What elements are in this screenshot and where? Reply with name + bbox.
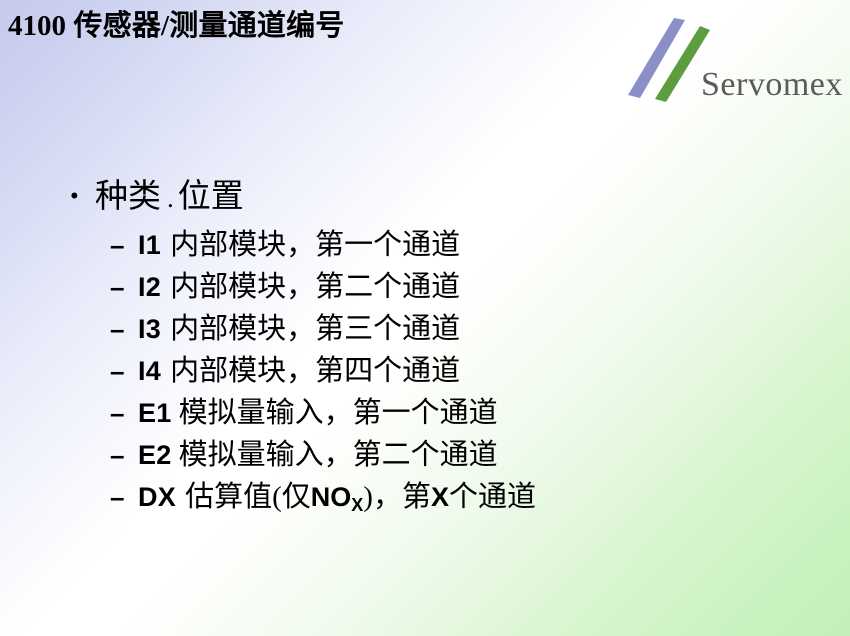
list-item: – I3内部模块，第三个通道 xyxy=(0,308,850,350)
channel-description: 内部模块，第一个通道 xyxy=(161,229,460,261)
bullet-dot-icon: • xyxy=(70,175,79,219)
channel-description-suffix-post: 个通道 xyxy=(449,481,536,513)
list-dash-icon: – xyxy=(110,434,124,476)
list-dash-icon: – xyxy=(110,308,124,350)
list-item: – E1模拟量输入，第一个通道 xyxy=(0,392,850,434)
list-item: – I1内部模块，第一个通道 xyxy=(0,224,850,266)
channel-index-variable: X xyxy=(431,482,449,512)
list-dash-icon: – xyxy=(110,224,124,266)
page-title-text: 传感器/测量通道编号 xyxy=(66,10,345,42)
heading-term-category: 种类 xyxy=(95,179,161,215)
page-title: 4100 传感器/测量通道编号 xyxy=(8,7,345,45)
list-item: – I2内部模块，第二个通道 xyxy=(0,266,850,308)
slide: 4100 传感器/测量通道编号 Servomex • 种类.位置 – I1内部模… xyxy=(0,0,850,636)
list-item: – DX估算值(仅NOX)，第X个通道 xyxy=(0,476,850,518)
channel-description-prefix: 估算值(仅 xyxy=(176,481,311,513)
channel-code: E2 xyxy=(138,440,172,470)
chemical-formula-subscript: X xyxy=(351,495,363,515)
channel-code: I1 xyxy=(138,230,161,260)
page-title-number: 4100 xyxy=(8,10,66,42)
channel-description: 模拟量输入，第一个通道 xyxy=(172,397,498,429)
channel-description-middle: )， xyxy=(363,481,402,513)
chemical-formula: NOX xyxy=(311,482,364,512)
list-dash-icon: – xyxy=(110,266,124,308)
channel-description: 内部模块，第三个通道 xyxy=(161,313,460,345)
channel-description: 内部模块，第二个通道 xyxy=(161,271,460,303)
channel-description: 模拟量输入，第二个通道 xyxy=(172,439,498,471)
slide-content: • 种类.位置 – I1内部模块，第一个通道 – I2内部模块，第二个通道 – … xyxy=(0,175,850,518)
list-dash-icon: – xyxy=(110,476,124,518)
list-dash-icon: – xyxy=(110,350,124,392)
chemical-formula-base: NO xyxy=(311,482,352,512)
list-dash-icon: – xyxy=(110,392,124,434)
channel-description: 内部模块，第四个通道 xyxy=(161,355,460,387)
channel-description-suffix-pre: 第 xyxy=(402,481,431,513)
list-item: – E2模拟量输入，第二个通道 xyxy=(0,434,850,476)
servomex-logo: Servomex xyxy=(622,16,842,108)
channel-code: I3 xyxy=(138,314,161,344)
channel-code-list: – I1内部模块，第一个通道 – I2内部模块，第二个通道 – I3内部模块，第… xyxy=(0,224,850,518)
channel-code: E1 xyxy=(138,398,172,428)
heading-term-position: 位置 xyxy=(178,179,244,215)
bullet-heading: • 种类.位置 xyxy=(0,175,850,220)
channel-code: DX xyxy=(138,482,176,512)
logo-wordmark: Servomex xyxy=(701,66,843,104)
channel-code: I2 xyxy=(138,272,161,302)
heading-separator: . xyxy=(161,183,178,213)
channel-code: I4 xyxy=(138,356,161,386)
list-item: – I4内部模块，第四个通道 xyxy=(0,350,850,392)
